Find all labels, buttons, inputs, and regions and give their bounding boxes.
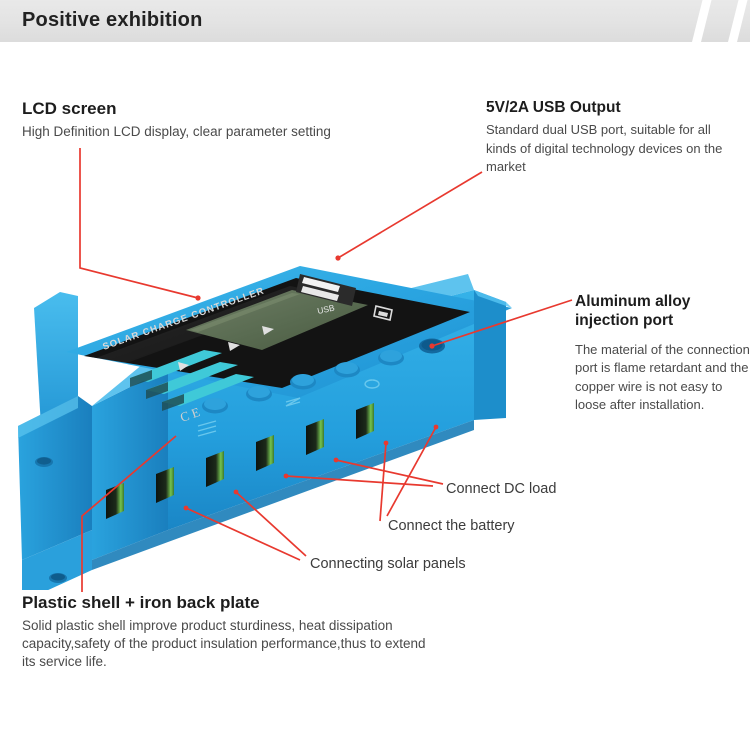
product-illustration: SOLAR CHARGE CONTROLLER C E: [0, 230, 520, 590]
page-title: Positive exhibition: [22, 9, 203, 32]
callout-usb-output: 5V/2A USB Output Standard dual USB port,…: [486, 98, 744, 177]
section-header: Positive exhibition: [0, 0, 750, 42]
callout-lcd-screen: LCD screen High Definition LCD display, …: [22, 98, 422, 141]
callout-title-lcd-screen: LCD screen: [22, 98, 422, 119]
label-connecting-solar-panels: Connecting solar panels: [310, 556, 466, 572]
callout-title-aluminum-alloy: Aluminum alloy injection port: [575, 292, 750, 331]
label-connect-dc-load: Connect DC load: [446, 481, 556, 497]
callout-body-aluminum-alloy: The material of the connection port is f…: [575, 341, 750, 415]
label-connect-the-battery: Connect the battery: [388, 518, 515, 534]
callout-body-plastic-shell: Solid plastic shell improve product stur…: [22, 617, 442, 671]
aluminum-injection-port: [419, 339, 445, 354]
callout-aluminum-alloy: Aluminum alloy injection port The materi…: [575, 292, 750, 415]
product-infographic: Positive exhibition: [0, 0, 750, 750]
callout-plastic-shell: Plastic shell + iron back plate Solid pl…: [22, 592, 442, 671]
header-slash-icon: [689, 0, 714, 42]
header-slash-secondary-icon: [725, 0, 750, 42]
callout-body-usb-output: Standard dual USB port, suitable for all…: [486, 121, 744, 176]
callout-body-lcd-screen: High Definition LCD display, clear param…: [22, 123, 422, 141]
callout-title-usb-output: 5V/2A USB Output: [486, 98, 744, 117]
callout-title-plastic-shell: Plastic shell + iron back plate: [22, 592, 442, 613]
mounting-flange-left: [18, 292, 92, 560]
